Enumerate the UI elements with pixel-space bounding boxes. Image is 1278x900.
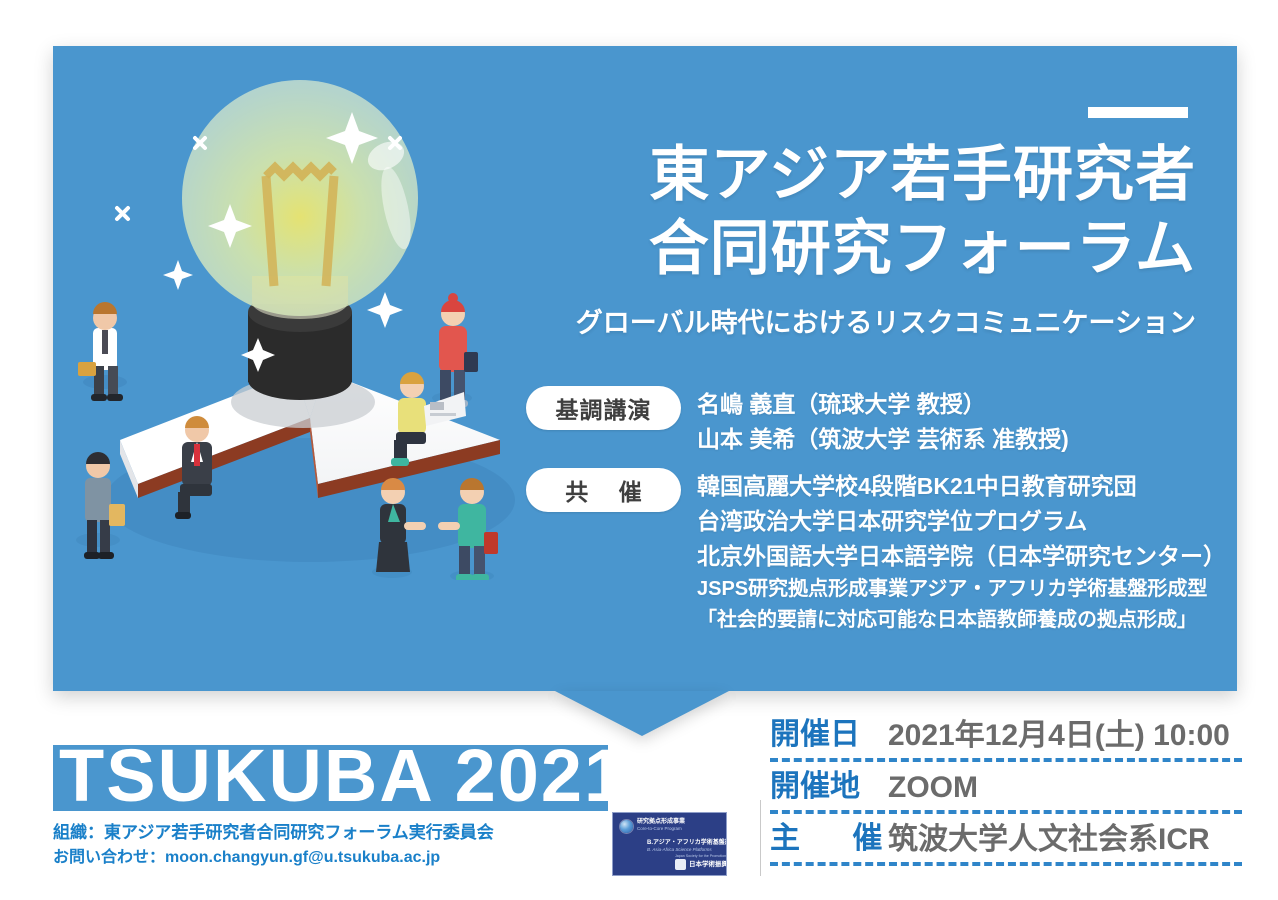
cohost-item-1: 韓国高麗大学校4段階BK21中日教育研究団 (697, 469, 1226, 504)
event-info-table: 開催日 2021年12月4日(土) 10:00 開催地 ZOOM 主 催 筑波大… (770, 710, 1242, 866)
globe-icon (620, 820, 633, 833)
title-line-2: 合同研究フォーラム (600, 212, 1196, 286)
decorative-dash-icon (1088, 107, 1188, 118)
organization-line: 組織：東アジア若手研究者合同研究フォーラム実行委員会 (53, 820, 653, 845)
keynote-speaker-1: 名嶋 義直（琉球大学 教授） (697, 387, 1069, 422)
info-value-date: 2021年12月4日(土) 10:00 (888, 717, 1230, 755)
info-label-host: 主 催 (770, 820, 904, 858)
poster-canvas: 東アジア若手研究者 合同研究フォーラム グローバル時代におけるリスクコミュニケー… (0, 0, 1278, 900)
cohost-item-2: 台湾政治大学日本研究学位プログラム (697, 504, 1226, 539)
tsukuba-wordmark-bar: TSUKUBA 2021 (53, 745, 608, 811)
jsps-seal-icon (675, 859, 686, 870)
cohost-list: 韓国高麗大学校4段階BK21中日教育研究団 台湾政治大学日本研究学位プログラム … (697, 468, 1226, 636)
tsukuba-wordmark: TSUKUBA 2021 (59, 745, 608, 811)
logo-type-ja: B.アジア・アフリカ学術基盤形成型 (647, 840, 727, 847)
info-row-host: 主 催 筑波大学人文社会系ICR (770, 814, 1242, 866)
info-row-date: 開催日 2021年12月4日(土) 10:00 (770, 710, 1242, 762)
hero-panel-arrow (555, 691, 729, 736)
title-line-1: 東アジア若手研究者 (600, 138, 1196, 212)
footer-divider (760, 800, 761, 876)
cohost-row: 共 催 韓国高麗大学校4段階BK21中日教育研究団 台湾政治大学日本研究学位プロ… (526, 468, 1226, 636)
info-rule-3 (770, 862, 1242, 866)
keynote-speakers: 名嶋 義直（琉球大学 教授） 山本 美希（筑波大学 芸術系 准教授) (697, 386, 1069, 457)
page-subtitle: グローバル時代におけるリスクコミュニケーション (520, 306, 1196, 340)
info-label-date: 開催日 (770, 716, 860, 754)
logo-program-ja: 研究拠点形成事業 (637, 819, 685, 826)
keynote-speaker-2: 山本 美希（筑波大学 芸術系 准教授) (697, 422, 1069, 457)
contact-email-line: お問い合わせ：moon.changyun.gf@u.tsukuba.ac.jp (53, 845, 653, 870)
info-value-venue: ZOOM (888, 769, 978, 807)
jsps-core-to-core-logo: 研究拠点形成事業 Core-to-Core Program B.アジア・アフリカ… (612, 812, 727, 876)
page-title: 東アジア若手研究者 合同研究フォーラム (600, 138, 1196, 286)
keynote-row: 基調講演 名嶋 義直（琉球大学 教授） 山本 美希（筑波大学 芸術系 准教授) (526, 386, 1069, 457)
cohost-item-5: 「社会的要請に対応可能な日本語教師養成の拠点形成」 (697, 605, 1226, 636)
logo-type-en: B. Asia-Africa Science Platforms (647, 847, 712, 853)
logo-program-en: Core-to-Core Program (637, 826, 682, 832)
lightbulb-book-illustration (60, 80, 540, 580)
cohost-item-3: 北京外国語大学日本語学院（日本学研究センター） (697, 539, 1226, 574)
keynote-pill-label: 基調講演 (526, 386, 681, 430)
footer-contact-block: 組織：東アジア若手研究者合同研究フォーラム実行委員会 お問い合わせ：moon.c… (53, 820, 653, 870)
info-row-venue: 開催地 ZOOM (770, 762, 1242, 814)
info-label-venue: 開催地 (770, 768, 860, 806)
cohost-item-4: JSPS研究拠点形成事業アジア・アフリカ学術基盤形成型 (697, 574, 1226, 605)
cohost-pill-label: 共 催 (526, 468, 681, 512)
logo-agency-ja: 日本学術振興会 (689, 860, 727, 869)
info-value-host: 筑波大学人文社会系ICR (888, 821, 1210, 859)
